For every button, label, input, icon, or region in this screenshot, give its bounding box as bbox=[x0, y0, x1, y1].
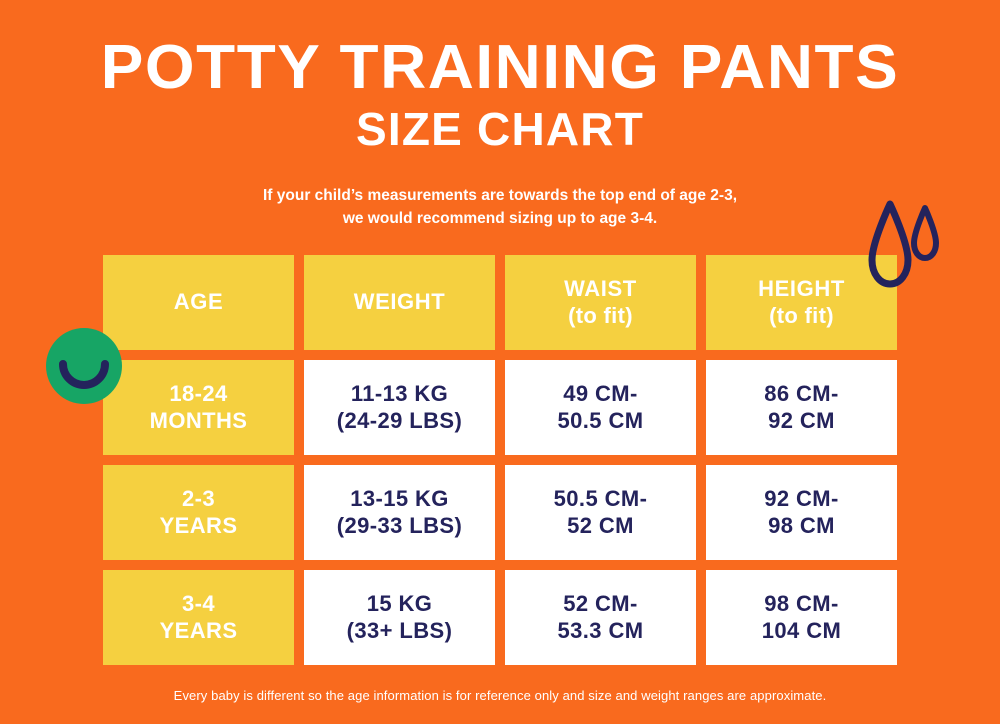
cell-age: 3-4 YEARS bbox=[103, 570, 294, 665]
cell-weight: 15 KG (33+ LBS) bbox=[304, 570, 495, 665]
cell-age-line-2: YEARS bbox=[160, 513, 238, 540]
water-droplet-small-icon bbox=[914, 208, 936, 258]
footer-disclaimer: Every baby is different so the age infor… bbox=[0, 688, 1000, 703]
cell-weight: 11-13 KG (24-29 LBS) bbox=[304, 360, 495, 455]
table-header-row: AGE WEIGHT WAIST (to fit) HEIGHT (to fit… bbox=[103, 255, 897, 350]
cell-age-line-2: MONTHS bbox=[150, 408, 248, 435]
column-header-weight: WEIGHT bbox=[304, 255, 495, 350]
column-header-height-title: HEIGHT bbox=[758, 276, 845, 303]
cell-height: 92 CM- 98 CM bbox=[706, 465, 897, 560]
title-block: POTTY TRAINING PANTS SIZE CHART bbox=[0, 36, 1000, 154]
cell-waist-line-2: 50.5 CM bbox=[558, 408, 644, 435]
cell-height: 86 CM- 92 CM bbox=[706, 360, 897, 455]
cell-weight-line-1: 11-13 KG bbox=[351, 381, 448, 408]
cell-weight-line-2: (29-33 LBS) bbox=[337, 513, 462, 540]
table-row: 3-4 YEARS 15 KG (33+ LBS) 52 CM- 53.3 CM… bbox=[103, 570, 897, 665]
cell-waist-line-2: 52 CM bbox=[567, 513, 634, 540]
page-subtitle: SIZE CHART bbox=[0, 105, 1000, 153]
sizing-note: If your child’s measurements are towards… bbox=[0, 184, 1000, 231]
cell-height-line-2: 92 CM bbox=[768, 408, 835, 435]
droplet-decoration-group bbox=[866, 198, 952, 294]
cell-waist-line-2: 53.3 CM bbox=[558, 618, 644, 645]
cell-waist: 52 CM- 53.3 CM bbox=[505, 570, 696, 665]
cell-height-line-1: 92 CM- bbox=[764, 486, 839, 513]
cell-height-line-1: 86 CM- bbox=[764, 381, 839, 408]
cell-height-line-1: 98 CM- bbox=[764, 591, 839, 618]
column-header-weight-title: WEIGHT bbox=[354, 289, 446, 316]
column-header-waist-subtitle: (to fit) bbox=[568, 303, 633, 330]
cell-weight-line-1: 13-15 KG bbox=[350, 486, 449, 513]
table-row: 18-24 MONTHS 11-13 KG (24-29 LBS) 49 CM-… bbox=[103, 360, 897, 455]
smiley-face-icon bbox=[46, 328, 122, 404]
cell-age-line-1: 2-3 bbox=[182, 486, 215, 513]
sizing-note-line-1: If your child’s measurements are towards… bbox=[0, 184, 1000, 207]
cell-weight-line-2: (33+ LBS) bbox=[347, 618, 453, 645]
cell-age-line-2: YEARS bbox=[160, 618, 238, 645]
cell-age-line-1: 3-4 bbox=[182, 591, 215, 618]
cell-height-line-2: 104 CM bbox=[762, 618, 841, 645]
water-droplet-icon bbox=[872, 204, 908, 284]
table-row: 2-3 YEARS 13-15 KG (29-33 LBS) 50.5 CM- … bbox=[103, 465, 897, 560]
cell-weight-line-1: 15 KG bbox=[367, 591, 433, 618]
cell-waist-line-1: 52 CM- bbox=[563, 591, 638, 618]
column-header-age-title: AGE bbox=[174, 289, 223, 316]
column-header-age: AGE bbox=[103, 255, 294, 350]
cell-waist-line-1: 50.5 CM- bbox=[554, 486, 648, 513]
cell-height-line-2: 98 CM bbox=[768, 513, 835, 540]
sizing-note-line-2: we would recommend sizing up to age 3-4. bbox=[0, 207, 1000, 230]
column-header-waist-title: WAIST bbox=[564, 276, 637, 303]
column-header-height-subtitle: (to fit) bbox=[769, 303, 834, 330]
size-chart-poster: POTTY TRAINING PANTS SIZE CHART If your … bbox=[0, 0, 1000, 724]
page-title: POTTY TRAINING PANTS bbox=[0, 36, 1000, 99]
cell-age: 18-24 MONTHS bbox=[103, 360, 294, 455]
column-header-waist: WAIST (to fit) bbox=[505, 255, 696, 350]
cell-height: 98 CM- 104 CM bbox=[706, 570, 897, 665]
cell-age: 2-3 YEARS bbox=[103, 465, 294, 560]
cell-weight-line-2: (24-29 LBS) bbox=[337, 408, 462, 435]
cell-age-line-1: 18-24 bbox=[169, 381, 227, 408]
cell-waist-line-1: 49 CM- bbox=[563, 381, 638, 408]
cell-waist: 50.5 CM- 52 CM bbox=[505, 465, 696, 560]
cell-weight: 13-15 KG (29-33 LBS) bbox=[304, 465, 495, 560]
size-chart-table: AGE WEIGHT WAIST (to fit) HEIGHT (to fit… bbox=[103, 255, 897, 665]
cell-waist: 49 CM- 50.5 CM bbox=[505, 360, 696, 455]
